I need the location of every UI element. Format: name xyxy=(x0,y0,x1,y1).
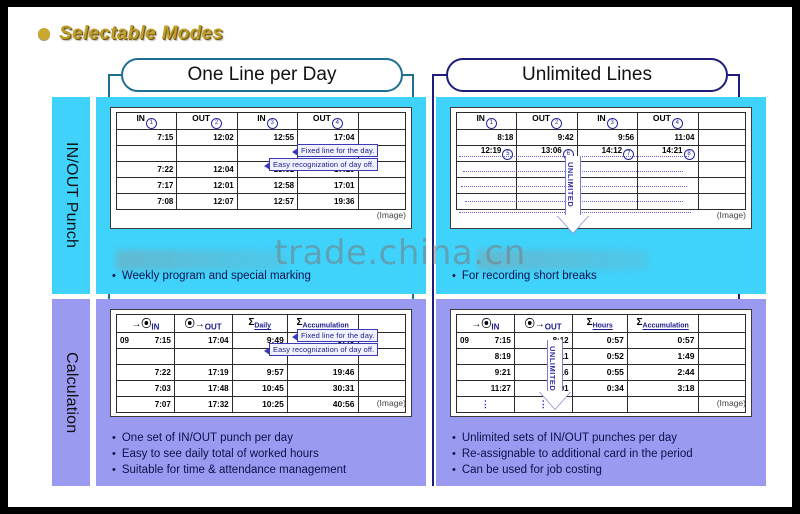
table-row: 7:07 17:32 10:25 40:56 xyxy=(117,396,406,412)
cell-daily: 10:45 xyxy=(232,380,287,396)
arrow-in-icon: →⦿ xyxy=(471,319,491,330)
col-header-out: ⦿→OUT xyxy=(514,315,572,333)
cell-out-2 xyxy=(638,161,698,177)
col-header-out-label: OUT xyxy=(205,323,222,332)
cell-in-3-value: 12:19 xyxy=(481,146,501,155)
cell-out-1: 9:42 xyxy=(517,129,577,145)
circle-mark-3: 3 xyxy=(267,118,278,129)
panel-unlimited-lines-calculation: →⦿IN ⦿→OUT ΣHours ΣAccumulation xyxy=(436,299,766,486)
bullet-list-one-line-calculation: • One set of IN/OUT punch per day • Easy… xyxy=(112,430,418,478)
col-header-out-label: OUT xyxy=(545,323,562,332)
col-header-in-1-label: IN xyxy=(476,113,485,123)
cell-out-3: 13:066 xyxy=(517,145,577,161)
col-header-out-1: OUT2 xyxy=(517,113,577,130)
cell-hours: 0:52 xyxy=(572,348,627,364)
bullet-dot-icon: • xyxy=(452,446,456,462)
col-header-out: ⦿→OUT xyxy=(174,315,232,333)
col-header-in-2: IN3 xyxy=(237,113,297,130)
col-header-daily: ΣDaily xyxy=(232,315,287,333)
col-header-in-2-label: IN xyxy=(597,113,606,123)
cell-in-2: 12:57 xyxy=(237,193,297,209)
cell-in: 8:19 xyxy=(457,348,515,364)
list-item-label: One set of IN/OUT punch per day xyxy=(122,430,293,446)
cell-in: 11:27 xyxy=(457,380,515,396)
tab-stem-right-vertical xyxy=(432,74,434,98)
col-header-out-2-label: OUT xyxy=(313,113,331,123)
callout-day-off-text: Easy recognization of day off. xyxy=(273,345,374,354)
circle-mark-6: 6 xyxy=(563,149,574,160)
side-label-in-out-punch-text: IN/OUT Punch xyxy=(62,142,80,248)
list-item-label: Can be used for job costing xyxy=(462,462,602,478)
cell-out: 10:16 xyxy=(514,364,572,380)
col-header-blank xyxy=(358,113,406,130)
col-header-in-1-label: IN xyxy=(136,113,145,123)
cell-accumulation: 3:18 xyxy=(627,380,698,396)
cell-in: 097:15 xyxy=(117,332,175,348)
list-item: • Easy to see daily total of worked hour… xyxy=(112,446,418,462)
list-item: • One set of IN/OUT punch per day xyxy=(112,430,418,446)
cell-in-3: 12:195 xyxy=(457,145,517,161)
cell-day-number: 09 xyxy=(460,336,469,345)
circle-mark-5: 5 xyxy=(502,149,513,160)
tab-unlimited-lines[interactable]: Unlimited Lines xyxy=(446,58,728,92)
list-item: • Can be used for job costing xyxy=(452,462,758,478)
cell-hours xyxy=(572,396,627,412)
table-row: 7:08 12:07 12:57 19:36 xyxy=(117,193,406,209)
cell-out-2: 17:01 xyxy=(298,177,358,193)
cell-in-value: 7:15 xyxy=(155,336,171,345)
bullet-dot-icon: • xyxy=(452,268,456,284)
cell-blank xyxy=(358,380,406,396)
cell-daily: 9:57 xyxy=(232,364,287,380)
cell-out: 8:12 xyxy=(514,332,572,348)
cell-out-3-value: 13:06 xyxy=(541,146,561,155)
col-header-blank xyxy=(698,315,746,333)
list-item: • Unlimited sets of IN/OUT punches per d… xyxy=(452,430,758,446)
cell-blank xyxy=(698,332,746,348)
bullet-list-unlimited-calculation: • Unlimited sets of IN/OUT punches per d… xyxy=(452,430,758,478)
callout-fixed-line-text: Fixed line for the day. xyxy=(301,331,374,340)
cell-out: 17:19 xyxy=(174,364,232,380)
cell-blank xyxy=(698,161,746,177)
list-item-label: For recording short breaks xyxy=(462,268,597,284)
cell-blank xyxy=(358,129,406,145)
cell-in-1: 7:22 xyxy=(117,161,177,177)
table-row: 7:22 17:19 9:57 19:46 xyxy=(117,364,406,380)
tab-one-line-per-day[interactable]: One Line per Day xyxy=(121,58,403,92)
table-header-row: IN1 OUT2 IN3 OUT4 xyxy=(117,113,406,130)
cell-in-4: 14:127 xyxy=(577,145,637,161)
page-title: Selectable Modes xyxy=(38,23,223,45)
side-label-calculation: Calculation xyxy=(52,299,90,486)
callout-tail-icon xyxy=(292,148,298,156)
table-row: 7:03 17:48 10:45 30:31 xyxy=(117,380,406,396)
callout-day-off: Easy recognization of day off. xyxy=(269,158,378,171)
circle-mark-1: 1 xyxy=(486,118,497,129)
image-caption: (Image) xyxy=(717,398,746,408)
arrow-out-icon: ⦿→ xyxy=(525,319,545,330)
col-header-out-2: OUT4 xyxy=(638,113,698,130)
tab-stem-left-vertical xyxy=(108,74,110,98)
list-item: • Re-assignable to additional card in th… xyxy=(452,446,758,462)
cell-hours: 0:57 xyxy=(572,332,627,348)
col-header-daily-label: Daily xyxy=(254,323,271,330)
cell-out-1: 12:04 xyxy=(177,161,237,177)
col-header-out-2: OUT4 xyxy=(298,113,358,130)
col-header-in-1: IN1 xyxy=(457,113,517,130)
circle-mark-7: 7 xyxy=(623,149,634,160)
list-item-label: Re-assignable to additional card in the … xyxy=(462,446,693,462)
col-header-in-1: IN1 xyxy=(117,113,177,130)
calculation-table-card-one-line: →⦿IN ⦿→OUT ΣDaily ΣAccumulation xyxy=(110,309,412,417)
cell-out xyxy=(174,348,232,364)
bullet-dot-icon: • xyxy=(112,446,116,462)
circle-mark-1: 1 xyxy=(146,118,157,129)
cell-blank xyxy=(698,193,746,209)
page-title-text: Selectable Modes xyxy=(59,23,223,45)
cell-in-ellipsis: ⋮ xyxy=(457,396,515,412)
circle-mark-3: 3 xyxy=(607,118,618,129)
table-row: ⋮ ⋮ xyxy=(457,396,746,412)
table-row: 7:17 12:01 12:58 17:01 xyxy=(117,177,406,193)
cell-out: 17:48 xyxy=(174,380,232,396)
image-caption: (Image) xyxy=(377,210,406,220)
cell-in: 097:15 xyxy=(457,332,515,348)
callout-day-off: Easy recognization of day off. xyxy=(269,343,378,356)
watermark-blur-left xyxy=(116,250,286,270)
table-row: 8:19 9:11 0:52 1:49 xyxy=(457,348,746,364)
callout-fixed-line-text: Fixed line for the day. xyxy=(301,146,374,155)
callout-tail-icon xyxy=(292,333,298,341)
table-row xyxy=(457,161,746,177)
screenshot-frame: Selectable Modes One Line per Day Unlimi… xyxy=(0,0,800,514)
panel-one-line-per-day-calculation: →⦿IN ⦿→OUT ΣDaily ΣAccumulation xyxy=(96,299,426,486)
bullet-dot-icon: • xyxy=(112,462,116,478)
cell-in-2: 12:58 xyxy=(237,177,297,193)
bullet-list-one-line-punch: • Weekly program and special marking xyxy=(112,268,418,284)
cell-out: 17:32 xyxy=(174,396,232,412)
cell-in-1: 7:08 xyxy=(117,193,177,209)
cell-in-2: 9:56 xyxy=(577,129,637,145)
col-header-out-2-label: OUT xyxy=(653,113,671,123)
cell-in-1: 7:15 xyxy=(117,129,177,145)
cell-accumulation: 30:31 xyxy=(287,380,358,396)
list-item-label: Easy to see daily total of worked hours xyxy=(122,446,319,462)
cell-in-2: 12:55 xyxy=(237,129,297,145)
cell-blank xyxy=(698,348,746,364)
bullet-dot-icon: • xyxy=(112,268,116,284)
cell-daily: 10:25 xyxy=(232,396,287,412)
cell-out: 9:11 xyxy=(514,348,572,364)
cell-accumulation: 40:56 xyxy=(287,396,358,412)
col-header-in-2: IN3 xyxy=(577,113,637,130)
image-caption: (Image) xyxy=(377,398,406,408)
bullet-dot-icon: • xyxy=(452,462,456,478)
cell-in: 7:03 xyxy=(117,380,175,396)
circle-mark-2: 2 xyxy=(211,118,222,129)
col-header-out-1: OUT2 xyxy=(177,113,237,130)
cell-hours: 0:55 xyxy=(572,364,627,380)
punch-table-unlimited: IN1 OUT2 IN3 OUT4 8: xyxy=(456,112,746,210)
col-header-in: →⦿IN xyxy=(457,315,515,333)
cell-hours: 0:34 xyxy=(572,380,627,396)
cell-day-number: 09 xyxy=(120,336,129,345)
cell-in-4-value: 14:12 xyxy=(602,146,622,155)
tab-stem-left-right-vertical xyxy=(412,74,414,98)
bullet-dot-icon: • xyxy=(452,430,456,446)
table-row: 7:15 12:02 12:55 17:04 xyxy=(117,129,406,145)
cell-blank xyxy=(698,364,746,380)
col-header-out-1-label: OUT xyxy=(192,113,210,123)
cell-in xyxy=(117,348,175,364)
decorative-dotted-line xyxy=(459,156,689,157)
col-header-in-2-label: IN xyxy=(257,113,266,123)
bullet-icon xyxy=(38,28,50,40)
cell-in-1 xyxy=(117,145,177,161)
col-header-blank xyxy=(698,113,746,130)
tab-unlimited-lines-label: Unlimited Lines xyxy=(522,64,652,86)
side-label-in-out-punch: IN/OUT Punch xyxy=(52,97,90,294)
circle-mark-4: 4 xyxy=(672,118,683,129)
callout-fixed-line: Fixed line for the day. xyxy=(297,144,378,157)
decorative-dotted-line xyxy=(465,201,683,202)
cell-out-2: 19:36 xyxy=(298,193,358,209)
col-header-in-label: IN xyxy=(491,323,499,332)
tab-stem-right-right-horizontal xyxy=(726,74,740,76)
table-header-row: →⦿IN ⦿→OUT ΣHours ΣAccumulation xyxy=(457,315,746,333)
slide-canvas: Selectable Modes One Line per Day Unlimi… xyxy=(8,7,792,507)
arrow-out-icon: ⦿→ xyxy=(185,319,205,330)
table-row: 9:21 10:16 0:55 2:44 xyxy=(457,364,746,380)
cell-blank xyxy=(698,380,746,396)
callout-day-off-text: Easy recognization of day off. xyxy=(273,160,374,169)
list-item: • Weekly program and special marking xyxy=(112,268,418,284)
cell-out-2: 11:04 xyxy=(638,129,698,145)
cell-out-ellipsis: ⋮ xyxy=(514,396,572,412)
list-item-label: Weekly program and special marking xyxy=(122,268,311,284)
cell-blank xyxy=(358,364,406,380)
callout-tail-icon xyxy=(264,347,270,355)
col-header-out-1-label: OUT xyxy=(532,113,550,123)
arrow-in-icon: →⦿ xyxy=(131,319,151,330)
callout-tail-icon xyxy=(264,162,270,170)
punch-table-card-unlimited: IN1 OUT2 IN3 OUT4 8: xyxy=(450,107,752,229)
cell-blank xyxy=(698,145,746,161)
cell-accumulation: 19:46 xyxy=(287,364,358,380)
callout-fixed-line: Fixed line for the day. xyxy=(297,329,378,342)
side-label-calculation-text: Calculation xyxy=(62,352,80,433)
calculation-table-card-unlimited: →⦿IN ⦿→OUT ΣHours ΣAccumulation xyxy=(450,309,752,417)
cell-accumulation xyxy=(627,396,698,412)
cell-blank xyxy=(698,177,746,193)
cell-in-value: 7:15 xyxy=(495,336,511,345)
image-caption: (Image) xyxy=(717,210,746,220)
cell-in-1: 8:18 xyxy=(457,129,517,145)
cell-out-4-value: 14:21 xyxy=(662,146,682,155)
decorative-dotted-line xyxy=(459,212,691,213)
list-item: • For recording short breaks xyxy=(452,268,758,284)
cell-out-4: 14:218 xyxy=(638,145,698,161)
cell-blank xyxy=(358,177,406,193)
cell-out-1 xyxy=(517,161,577,177)
cell-in-1 xyxy=(457,161,517,177)
col-header-hours: ΣHours xyxy=(572,315,627,333)
cell-in: 7:22 xyxy=(117,364,175,380)
table-row: 8:18 9:42 9:56 11:04 xyxy=(457,129,746,145)
decorative-dotted-line xyxy=(461,186,687,187)
col-header-in: →⦿IN xyxy=(117,315,175,333)
cell-in: 7:07 xyxy=(117,396,175,412)
arrow-head xyxy=(557,215,589,233)
col-header-accumulation: ΣAccumulation xyxy=(627,315,698,333)
cell-out-1: 12:02 xyxy=(177,129,237,145)
bullet-list-unlimited-punch: • For recording short breaks xyxy=(452,268,758,284)
cell-out-1 xyxy=(177,145,237,161)
decorative-dotted-line xyxy=(463,171,683,172)
cell-out-2: 17:04 xyxy=(298,129,358,145)
col-header-in-label: IN xyxy=(151,323,159,332)
group-outline-right-edge xyxy=(432,98,434,486)
cell-accumulation: 1:49 xyxy=(627,348,698,364)
circle-mark-2: 2 xyxy=(551,118,562,129)
bullet-dot-icon: • xyxy=(112,430,116,446)
punch-table-card-one-line: IN1 OUT2 IN3 OUT4 7: xyxy=(110,107,412,229)
tab-one-line-per-day-label: One Line per Day xyxy=(188,64,337,86)
cell-accumulation: 2:44 xyxy=(627,364,698,380)
list-item-label: Unlimited sets of IN/OUT punches per day xyxy=(462,430,677,446)
col-header-accumulation-label: Accumulation xyxy=(643,323,689,330)
cell-out: 17:04 xyxy=(174,332,232,348)
cell-out-1: 12:07 xyxy=(177,193,237,209)
cell-in: 9:21 xyxy=(457,364,515,380)
table-row: 12:195 13:066 14:127 14:218 xyxy=(457,145,746,161)
table-header-row: IN1 OUT2 IN3 OUT4 xyxy=(457,113,746,130)
cell-in-1: 7:17 xyxy=(117,177,177,193)
cell-out: 12:01 xyxy=(514,380,572,396)
table-row: 11:27 12:01 0:34 3:18 xyxy=(457,380,746,396)
cell-accumulation: 0:57 xyxy=(627,332,698,348)
list-item-label: Suitable for time & attendance managemen… xyxy=(122,462,346,478)
circle-mark-4: 4 xyxy=(332,118,343,129)
watermark-blur-right xyxy=(478,250,648,270)
col-header-hours-label: Hours xyxy=(593,323,613,330)
circle-mark-8: 8 xyxy=(684,149,695,160)
cell-blank xyxy=(698,129,746,145)
tab-stem-right-right-vertical xyxy=(738,74,740,98)
cell-out-1: 12:01 xyxy=(177,177,237,193)
table-row: 097:15 8:12 0:57 0:57 xyxy=(457,332,746,348)
cell-in-2 xyxy=(577,161,637,177)
cell-blank xyxy=(358,193,406,209)
list-item: • Suitable for time & attendance managem… xyxy=(112,462,418,478)
calculation-table-unlimited: →⦿IN ⦿→OUT ΣHours ΣAccumulation xyxy=(456,314,746,413)
